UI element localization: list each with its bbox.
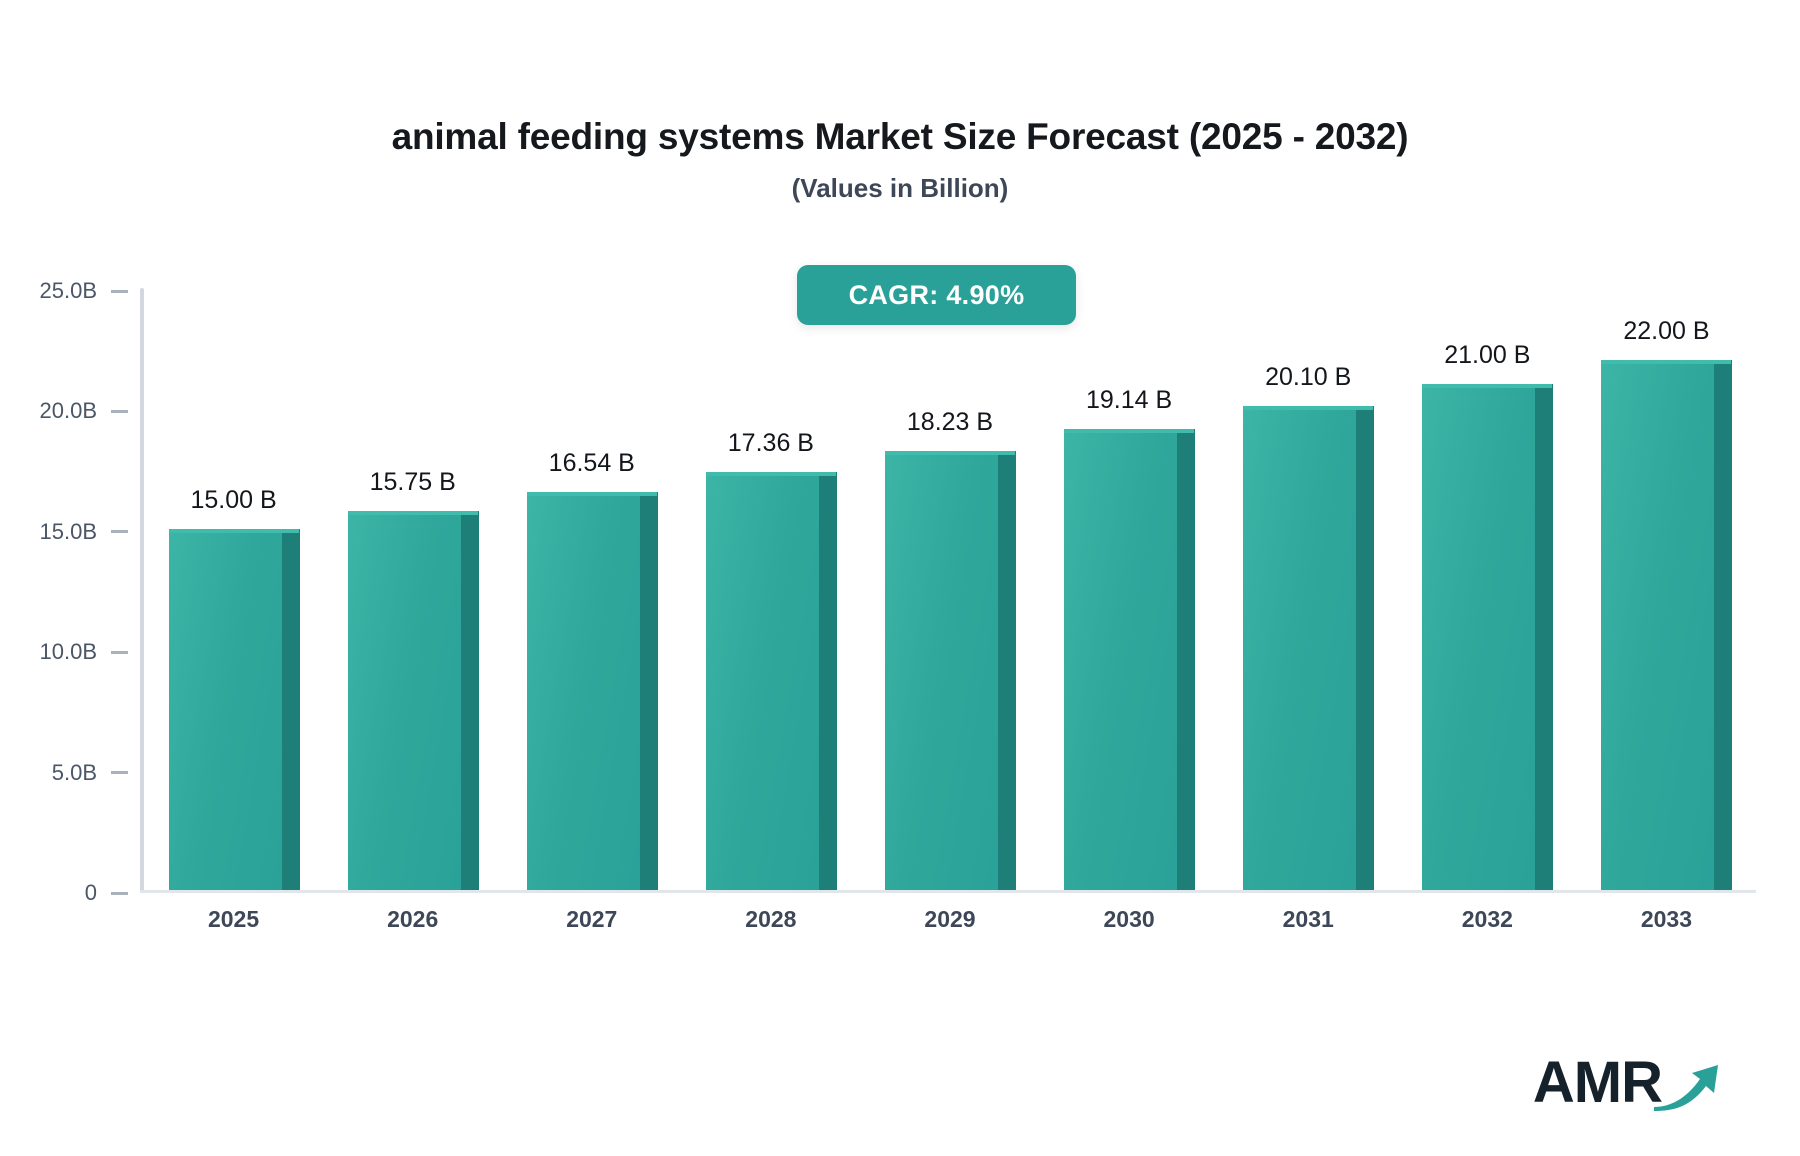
chart-title: animal feeding systems Market Size Forec… — [0, 116, 1800, 158]
bar-side-3d — [282, 529, 300, 890]
y-axis-tick-mark — [111, 892, 128, 895]
y-axis-tick: 25.0B — [40, 278, 141, 304]
bar-slot: 17.36 B — [681, 288, 860, 890]
bar-side-3d — [461, 511, 479, 890]
y-axis-tick-label: 15.0B — [40, 519, 98, 545]
y-axis-tick-mark — [111, 290, 128, 293]
plot-area: 25.0B20.0B15.0B10.0B5.0B0 15.00 B15.75 B… — [140, 288, 1756, 893]
bar-face — [348, 511, 478, 890]
bar-value-label: 15.00 B — [190, 486, 276, 515]
bar-side-3d — [1177, 429, 1195, 890]
bar-slot: 19.14 B — [1040, 288, 1219, 890]
y-axis-tick-mark — [111, 410, 128, 413]
bar[interactable]: 16.54 B — [527, 492, 657, 890]
bar-face — [1422, 384, 1552, 890]
y-axis-tick-label: 5.0B — [52, 760, 97, 786]
trend-up-arrow-icon — [1652, 1057, 1722, 1116]
bar-value-label: 22.00 B — [1623, 317, 1709, 346]
bar-top-3d — [885, 451, 1015, 455]
bar-series: 15.00 B15.75 B16.54 B17.36 B18.23 B19.14… — [144, 288, 1756, 890]
bar-face — [169, 529, 299, 890]
bar-side-3d — [1714, 360, 1732, 890]
bar[interactable]: 22.00 B — [1601, 360, 1731, 890]
bar[interactable]: 15.00 B — [169, 529, 299, 890]
bar[interactable]: 19.14 B — [1064, 429, 1194, 890]
x-axis-label: 2030 — [1040, 906, 1219, 933]
bar-top-3d — [1422, 384, 1552, 388]
bar-side-3d — [1356, 406, 1374, 890]
bar-slot: 15.75 B — [323, 288, 502, 890]
bar-top-3d — [1064, 429, 1194, 433]
bar-face — [706, 472, 836, 890]
bar-top-3d — [706, 472, 836, 476]
bar-face — [527, 492, 657, 890]
y-axis-tick: 5.0B — [52, 760, 140, 786]
bar[interactable]: 20.10 B — [1243, 406, 1373, 890]
bar-slot: 22.00 B — [1577, 288, 1756, 890]
bar-face — [885, 451, 1015, 890]
bar-face — [1243, 406, 1373, 890]
y-axis-tick: 15.0B — [40, 519, 141, 545]
x-axis-label: 2028 — [681, 906, 860, 933]
y-axis-tick-label: 10.0B — [40, 639, 98, 665]
bar-value-label: 21.00 B — [1444, 341, 1530, 370]
bar-top-3d — [348, 511, 478, 515]
y-axis-tick-label: 0 — [85, 880, 97, 906]
bar[interactable]: 18.23 B — [885, 451, 1015, 890]
bar[interactable]: 15.75 B — [348, 511, 478, 890]
bar-slot: 18.23 B — [860, 288, 1039, 890]
x-axis-label: 2025 — [144, 906, 323, 933]
y-axis-tick-mark — [111, 530, 128, 533]
bar-top-3d — [527, 492, 657, 496]
bar-face — [1064, 429, 1194, 890]
bar[interactable]: 17.36 B — [706, 472, 836, 890]
x-axis-label: 2026 — [323, 906, 502, 933]
x-axis-label: 2032 — [1398, 906, 1577, 933]
bar[interactable]: 21.00 B — [1422, 384, 1552, 890]
y-axis-tick-mark — [111, 771, 128, 774]
bar-value-label: 18.23 B — [907, 408, 993, 437]
x-axis-label: 2031 — [1219, 906, 1398, 933]
bar-slot: 16.54 B — [502, 288, 681, 890]
y-axis-tick-mark — [111, 651, 128, 654]
bar-value-label: 20.10 B — [1265, 363, 1351, 392]
chart-subtitle: (Values in Billion) — [0, 173, 1800, 204]
bar-side-3d — [819, 472, 837, 890]
bar-face — [1601, 360, 1731, 890]
bar-slot: 20.10 B — [1219, 288, 1398, 890]
y-axis-tick: 10.0B — [40, 639, 141, 665]
x-axis-labels: 202520262027202820292030203120322033 — [144, 906, 1756, 933]
bar-value-label: 17.36 B — [728, 429, 814, 458]
bar-slot: 21.00 B — [1398, 288, 1577, 890]
logo-text: AMR — [1533, 1054, 1662, 1112]
bar-top-3d — [169, 529, 299, 533]
bar-value-label: 15.75 B — [370, 468, 456, 497]
bar-value-label: 19.14 B — [1086, 386, 1172, 415]
x-axis-label: 2033 — [1577, 906, 1756, 933]
bar-top-3d — [1243, 406, 1373, 410]
amr-logo: AMR — [1533, 1054, 1722, 1112]
chart-canvas: animal feeding systems Market Size Forec… — [0, 0, 1800, 1156]
bar-side-3d — [640, 492, 658, 890]
bar-value-label: 16.54 B — [549, 449, 635, 478]
x-axis-spine — [140, 890, 1756, 893]
y-axis-tick: 20.0B — [40, 398, 141, 424]
x-axis-label: 2029 — [860, 906, 1039, 933]
y-axis-tick: 0 — [85, 880, 140, 906]
bar-slot: 15.00 B — [144, 288, 323, 890]
y-axis-tick-label: 25.0B — [40, 278, 98, 304]
bar-side-3d — [1535, 384, 1553, 890]
bar-side-3d — [998, 451, 1016, 890]
x-axis-label: 2027 — [502, 906, 681, 933]
y-axis-tick-label: 20.0B — [40, 398, 98, 424]
bar-top-3d — [1601, 360, 1731, 364]
